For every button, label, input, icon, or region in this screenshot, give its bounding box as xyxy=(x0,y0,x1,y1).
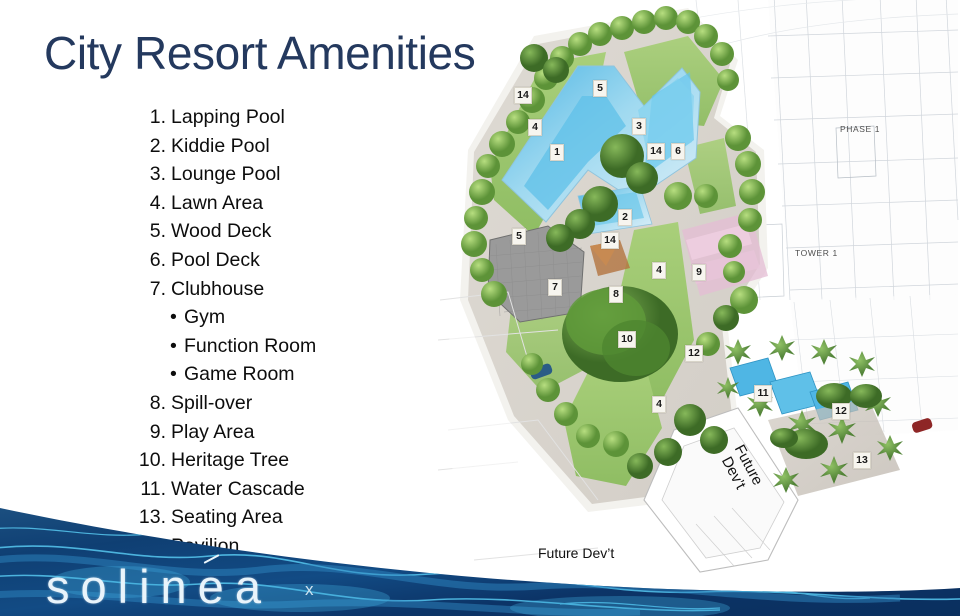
amenity-item: 1.Lapping Pool xyxy=(132,103,462,132)
map-marker-4[interactable]: 4 xyxy=(528,119,542,136)
footer-wave-banner: solinea x xyxy=(0,486,960,616)
map-marker-1[interactable]: 1 xyxy=(550,144,564,161)
amenity-label: Lapping Pool xyxy=(171,103,285,132)
amenity-item: 10.Heritage Tree xyxy=(132,446,462,475)
brand-logo: solinea xyxy=(46,562,272,612)
amenity-number: 6. xyxy=(132,246,166,275)
amenity-item: 3.Lounge Pool xyxy=(132,160,462,189)
map-marker-2[interactable]: 2 xyxy=(618,209,632,226)
amenity-item: 8.Spill-over xyxy=(132,389,462,418)
bullet-icon: • xyxy=(170,332,177,361)
slide-canvas: City Resort Amenities 1.Lapping Pool2.Ki… xyxy=(0,0,960,616)
map-marker-12[interactable]: 12 xyxy=(832,403,850,420)
map-marker-13[interactable]: 13 xyxy=(853,452,871,469)
amenity-label: Gym xyxy=(184,303,225,332)
amenity-number: 4. xyxy=(132,189,166,218)
plan-label-tower-1: TOWER 1 xyxy=(795,248,838,258)
map-marker-6[interactable]: 6 xyxy=(671,143,685,160)
map-marker-14[interactable]: 14 xyxy=(647,143,665,160)
brand-logo-text: solinea xyxy=(46,560,272,613)
page-title: City Resort Amenities xyxy=(44,24,475,82)
amenity-label: Lawn Area xyxy=(171,189,263,218)
amenity-label: Clubhouse xyxy=(171,275,264,304)
amenity-number: 5. xyxy=(132,217,166,246)
map-marker-9[interactable]: 9 xyxy=(692,264,706,281)
map-marker-4[interactable]: 4 xyxy=(652,396,666,413)
amenity-item: 5.Wood Deck xyxy=(132,217,462,246)
amenity-sub-item: •Game Room xyxy=(132,360,462,389)
amenity-number: 7. xyxy=(132,275,166,304)
amenity-number: 8. xyxy=(132,389,166,418)
amenity-number: 10. xyxy=(132,446,166,475)
amenity-label: Kiddie Pool xyxy=(171,132,270,161)
map-marker-3[interactable]: 3 xyxy=(632,118,646,135)
amenity-label: Heritage Tree xyxy=(171,446,289,475)
amenity-number: 2. xyxy=(132,132,166,161)
map-marker-5[interactable]: 5 xyxy=(512,228,526,245)
amenity-item: 6.Pool Deck xyxy=(132,246,462,275)
amenity-label: Game Room xyxy=(184,360,295,389)
amenity-label: Wood Deck xyxy=(171,217,271,246)
amenity-label: Function Room xyxy=(184,332,316,361)
bullet-icon: • xyxy=(170,303,177,332)
amenity-number: 9. xyxy=(132,418,166,447)
bullet-icon: • xyxy=(170,360,177,389)
amenity-label: Pool Deck xyxy=(171,246,260,275)
amenity-item: 4.Lawn Area xyxy=(132,189,462,218)
amenity-label: Play Area xyxy=(171,418,254,447)
plan-label-phase-1: PHASE 1 xyxy=(840,124,880,134)
amenity-number: 1. xyxy=(132,103,166,132)
amenity-number: 3. xyxy=(132,160,166,189)
amenity-sub-item: •Function Room xyxy=(132,332,462,361)
amenity-sub-item: •Gym xyxy=(132,303,462,332)
map-marker-10[interactable]: 10 xyxy=(618,331,636,348)
map-marker-14[interactable]: 14 xyxy=(514,87,532,104)
map-marker-4[interactable]: 4 xyxy=(652,262,666,279)
amenity-item: 7.Clubhouse xyxy=(132,275,462,304)
map-marker-12[interactable]: 12 xyxy=(685,345,703,362)
map-marker-5[interactable]: 5 xyxy=(593,80,607,97)
map-marker-8[interactable]: 8 xyxy=(609,286,623,303)
map-marker-14[interactable]: 14 xyxy=(601,232,619,249)
amenity-item: 2.Kiddie Pool xyxy=(132,132,462,161)
amenity-label: Spill-over xyxy=(171,389,252,418)
amenity-item: 9.Play Area xyxy=(132,418,462,447)
map-marker-11[interactable]: 11 xyxy=(754,385,772,402)
amenity-label: Lounge Pool xyxy=(171,160,281,189)
brand-mark-x: x xyxy=(305,580,314,600)
map-marker-7[interactable]: 7 xyxy=(548,279,562,296)
